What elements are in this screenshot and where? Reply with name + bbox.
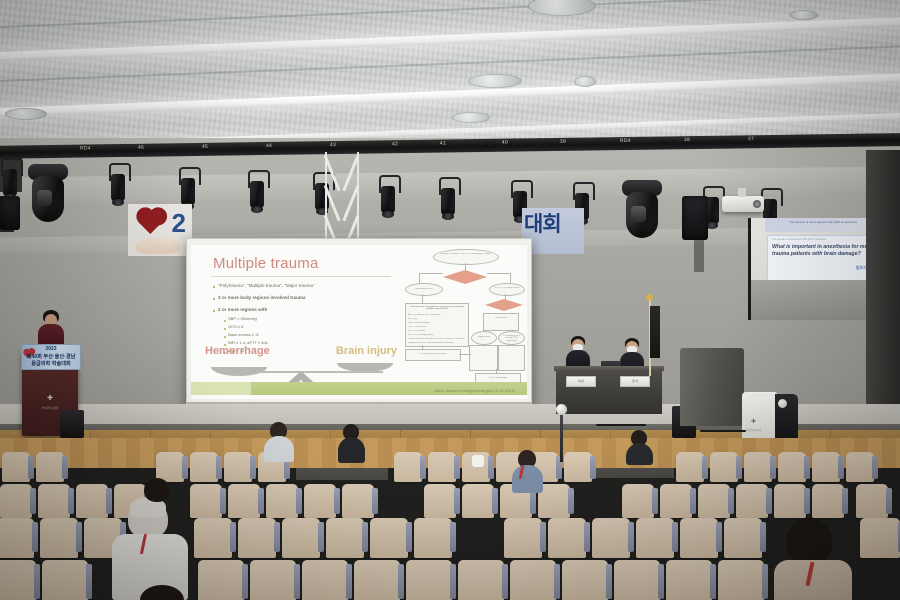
banner-line-1: 제40회 부산·울산·경남 [27,353,76,360]
ceiling-vent-icon [452,112,490,123]
banner-number: 2 [172,208,186,239]
seat[interactable] [42,560,88,600]
truss-number: 46 [138,145,144,151]
seat[interactable] [548,518,586,558]
seat[interactable] [812,452,840,482]
seat[interactable] [0,518,34,558]
seat[interactable] [0,560,36,600]
banner-text: 대회 [524,208,561,238]
seat[interactable] [744,452,772,482]
flow-node-sub-a [469,345,498,371]
name-placard: 좌 장 [566,376,596,387]
seat[interactable] [428,452,456,482]
ceiling-vent-icon [5,108,47,120]
bullet-marker [224,328,226,330]
truss-number: RD4 [80,145,91,151]
flow-node-left: No Damage Control [405,283,443,296]
balance-right-label: Brain injury [336,345,397,357]
flow-decision-2 [485,299,523,311]
side-screen-headline: The session is accompanied with Q&A of q… [789,220,857,224]
seat[interactable] [622,484,654,518]
aisle-microphone-stand[interactable] [560,410,563,462]
seat[interactable] [592,518,630,558]
wall-banner-heart: 2 [128,204,192,256]
stage-curtain [680,348,744,426]
ceiling-vent-icon [468,74,522,88]
seat[interactable] [354,560,400,600]
seat[interactable] [680,518,718,558]
seat[interactable] [228,484,260,518]
side-screen-kicker: The session is accompanied with Q&A of q… [772,238,826,241]
banner-year: 2023 [45,346,56,352]
seat[interactable] [266,484,298,518]
seat[interactable] [510,560,556,600]
stage-spotlight [247,170,267,210]
seat[interactable] [614,560,660,600]
truss-number: RD4 [620,138,631,144]
stage-spotlight [108,163,128,203]
seat[interactable] [718,560,764,600]
flowchart-diagram: SEVERE TBI PATIENTS with POLYTRAUMA (fir… [405,249,523,385]
slide-footer-band-left [191,382,251,395]
truss-number: 39 [560,139,566,145]
access-ladder [325,152,359,244]
hospital-logo-icon: ✚ [751,418,756,425]
stage-spotlight [0,158,20,198]
heart-icon [139,210,163,234]
seat[interactable] [676,452,704,482]
slide-bullet: 2 or more regions with [218,307,267,312]
seat[interactable] [774,484,806,518]
seat[interactable] [0,484,32,518]
seat[interactable] [710,452,738,482]
balance-left-label: Hemorrhage [205,345,270,357]
slide-sub-bullet: SBP < 90mmHg [228,317,257,321]
seat[interactable] [394,452,422,482]
truss-number: 41 [440,140,446,146]
seat[interactable] [190,452,218,482]
seat[interactable] [36,452,64,482]
seat[interactable] [224,452,252,482]
bullet-marker [224,320,226,322]
stage-monitor-speaker [60,410,84,438]
ceremonial-flag [644,300,656,376]
seat[interactable] [76,484,108,518]
microphone-icon[interactable] [556,404,567,415]
truss-number: 40 [502,140,508,146]
hospital-logo-icon: ✚ [47,394,53,402]
seat[interactable] [190,484,222,518]
hands-graphic [136,238,180,254]
lectern-banner: 2023 제40회 부산·울산·경남 응급의학 학술대회 [21,344,81,370]
flow-node-start: SEVERE TBI PATIENTS with POLYTRAUMA (fir… [433,249,499,265]
floor-cable [596,424,646,426]
main-projection-screen: Multiple trauma "Polytrauma", "Multiple … [186,238,532,412]
moving-head-light [28,164,68,222]
hospital-name: 부산대학교병원 [746,428,761,432]
bullet-marker [213,310,215,312]
seat[interactable] [666,560,712,600]
seat[interactable] [304,484,336,518]
flow-node-positive: Positive Exam [483,313,519,331]
truss-number: 37 [748,136,754,142]
ceiling-vent-icon [790,10,818,20]
seat[interactable] [660,484,692,518]
seat[interactable] [370,518,408,558]
pa-speaker [682,196,708,240]
seat[interactable] [462,484,494,518]
flow-node-sub-b [498,345,525,371]
slide-citation: World Journal of emergency surgery 14: 5… [435,389,515,393]
seat[interactable] [250,560,296,600]
stage-spotlight [178,167,198,207]
flow-node-icp: ICP monitoring (DBC assisted ICP) if req… [498,331,525,345]
seat[interactable] [724,518,762,558]
truss-number: 42 [392,141,398,147]
pa-speaker [0,196,20,230]
flow-node-footer: ICU Bleeding Control Correction [405,349,461,361]
slide-bullet: "Polytrauma", "Multiple trauma", "Major … [218,283,315,288]
seat[interactable] [856,484,888,518]
seat[interactable] [198,560,244,600]
seat[interactable] [38,484,70,518]
banner-line-2: 응급의학 학술대회 [31,360,71,367]
title-divider [211,276,391,277]
seat[interactable] [860,518,900,558]
bullet-marker [213,286,215,288]
seat[interactable] [636,518,674,558]
truss-number: 43 [330,142,336,148]
placard-text: 좌 장 [578,379,584,383]
seat[interactable] [40,518,78,558]
balance-pan-left [211,367,267,376]
seat[interactable] [812,484,844,518]
slide-sub-bullet: GCS ≤ 8 [228,325,243,329]
name-placard: 연 자 [620,376,650,387]
stage-spotlight [438,177,458,217]
truss-number: 45 [202,144,208,150]
seat[interactable] [326,518,364,558]
seat[interactable] [846,452,874,482]
stage-spotlight [378,175,398,215]
seat[interactable] [2,452,30,482]
ceiling-projector [722,196,764,212]
seat[interactable] [458,560,504,600]
flow-node-neg: Negative Exam [471,331,497,345]
seat[interactable] [342,484,374,518]
seat[interactable] [194,518,232,558]
seat[interactable] [564,452,592,482]
auditorium-photo: RD4 46 45 44 43 42 41 40 39 RD4 38 37 [0,0,900,600]
slide-bullet: 3 or more body regions involved trauma [218,295,306,300]
presentation-slide: Multiple trauma "Polytrauma", "Multiple … [191,245,527,399]
hospital-name: 부산대학교병원 [42,406,59,410]
ceiling-vent-icon [574,76,596,87]
seat[interactable] [238,518,276,558]
podium-lamp-icon [778,399,787,408]
flow-decision-1 [443,270,487,284]
seat[interactable] [282,518,320,558]
placard-text: 연 자 [632,379,638,383]
seat[interactable] [736,484,768,518]
seat[interactable] [562,560,608,600]
seat[interactable] [424,484,456,518]
flow-panel-interventions: INTERVENTIONS IN BLEEDING CONTROL (if ne… [405,303,469,347]
floor-cable [700,430,746,432]
seat[interactable] [778,452,806,482]
flow-node-right: DCR + DCS Damage Control [489,283,525,296]
slide-sub-bullet: Base excess ≤ -6 [228,333,259,337]
slide-title: Multiple trauma [213,255,319,272]
seat[interactable] [414,518,452,558]
bullet-marker [224,336,226,338]
seat[interactable] [504,518,542,558]
moving-head-light [622,180,662,238]
truss-number: 44 [266,143,272,149]
truss-number: 38 [684,137,690,143]
seat[interactable] [698,484,730,518]
seat[interactable] [406,560,452,600]
seat[interactable] [302,560,348,600]
bullet-marker [213,298,215,300]
